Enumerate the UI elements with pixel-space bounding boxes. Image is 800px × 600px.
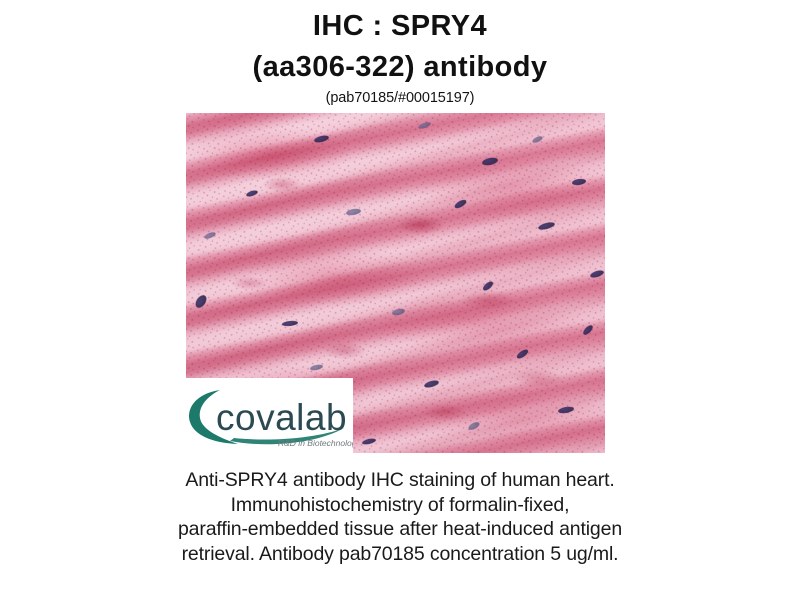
figure-title-block: IHC : SPRY4 (aa306-322) antibody (pab701… (0, 6, 800, 107)
figure-page: IHC : SPRY4 (aa306-322) antibody (pab701… (0, 0, 800, 600)
covalab-logo: covalab R&D in Biotechnology (186, 378, 353, 453)
caption-line-4: retrieval. Antibody pab70185 concentrati… (100, 542, 700, 567)
logo-tagline: R&D in Biotechnology (278, 438, 353, 448)
covalab-logo-svg: covalab R&D in Biotechnology (186, 378, 353, 453)
figure-caption: Anti-SPRY4 antibody IHC staining of huma… (100, 468, 700, 566)
title-line-2: (aa306-322) antibody (0, 47, 800, 88)
caption-line-1: Anti-SPRY4 antibody IHC staining of huma… (100, 468, 700, 493)
micrograph-image: covalab R&D in Biotechnology (186, 113, 605, 453)
caption-line-2: Immunohistochemistry of formalin-fixed, (100, 493, 700, 518)
catalog-number: (pab70185/#00015197) (0, 89, 800, 107)
caption-line-3: paraffin-embedded tissue after heat-indu… (100, 517, 700, 542)
logo-wordmark: covalab (216, 397, 347, 438)
title-line-1: IHC : SPRY4 (0, 6, 800, 47)
